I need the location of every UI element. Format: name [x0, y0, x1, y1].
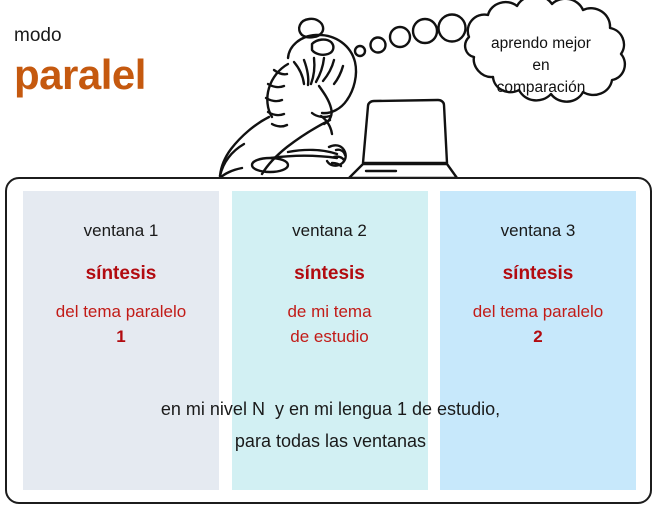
window-column-1[interactable]: ventana 1 síntesis del tema paralelo 1 — [23, 191, 219, 490]
windows-row: ventana 1 síntesis del tema paralelo 1 v… — [23, 191, 636, 490]
thought-line-3: comparación — [497, 79, 586, 96]
detail-line-1a: del tema paralelo — [56, 302, 186, 321]
synthesis-detail-1: del tema paralelo 1 — [23, 300, 219, 349]
page-title: modo paralel — [14, 26, 234, 97]
synthesis-label-2: síntesis — [232, 263, 428, 286]
window-column-2[interactable]: ventana 2 síntesis de mi tema de estudio — [232, 191, 428, 490]
title-eyebrow: modo — [14, 26, 234, 47]
thought-bubble-text: aprendo mejor en comparación — [491, 35, 591, 96]
thought-dots-icon — [355, 15, 466, 57]
detail-line-2b: de estudio — [290, 327, 368, 346]
thought-line-1: aprendo mejor — [491, 35, 591, 52]
window-label-1: ventana 1 — [23, 221, 219, 241]
synthesis-label-3: síntesis — [440, 263, 636, 286]
synthesis-detail-3: del tema paralelo 2 — [440, 300, 636, 349]
detail-line-3a: del tema paralelo — [473, 302, 603, 321]
synthesis-detail-2: de mi tema de estudio — [232, 300, 428, 349]
thought-line-2: en — [532, 57, 549, 74]
detail-line-1b: 1 — [116, 327, 125, 346]
detail-line-3b: 2 — [533, 327, 542, 346]
synthesis-label-1: síntesis — [23, 263, 219, 286]
window-column-3[interactable]: ventana 3 síntesis del tema paralelo 2 — [440, 191, 636, 490]
window-label-2: ventana 2 — [232, 221, 428, 241]
detail-line-2a: de mi tema — [287, 302, 371, 321]
laptop-icon — [349, 100, 457, 178]
person-hair-icon — [288, 19, 356, 124]
window-label-3: ventana 3 — [440, 221, 636, 241]
title-main: paralel — [14, 53, 234, 97]
parallel-mode-panel: ventana 1 síntesis del tema paralelo 1 v… — [5, 177, 652, 504]
illustration-person-studying: aprendo mejor en comparación — [216, 0, 657, 178]
